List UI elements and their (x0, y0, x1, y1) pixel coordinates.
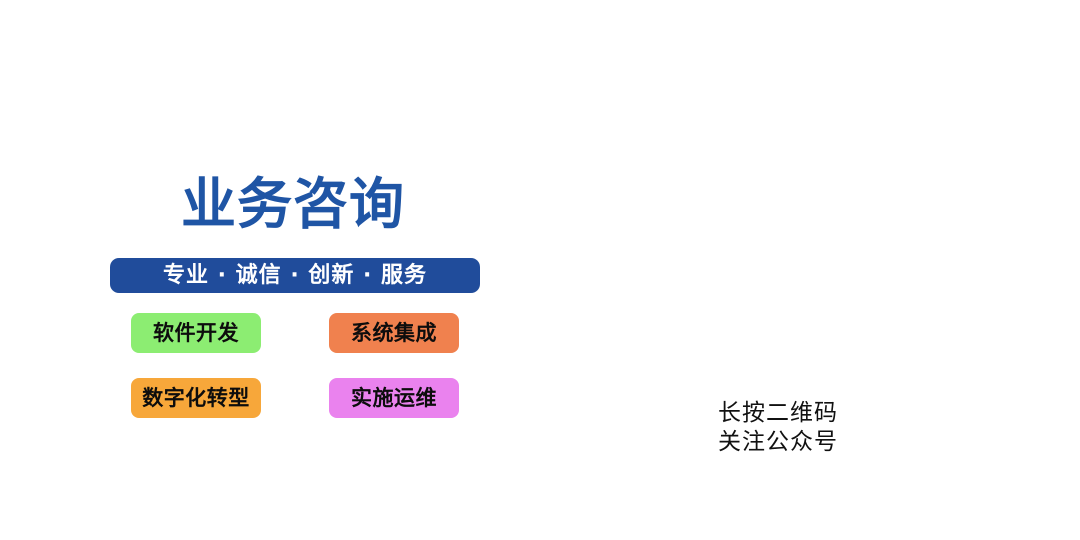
slogan-banner: 专业 · 诚信 · 创新 · 服务 (110, 258, 480, 293)
qr-caption: 长按二维码 关注公众号 (718, 399, 918, 457)
qr-caption-line-2: 关注公众号 (718, 428, 918, 457)
service-tag-grid: 软件开发 系统集成 数字化转型 实施运维 (131, 313, 461, 418)
poster-canvas: 业务咨询 专业 · 诚信 · 创新 · 服务 软件开发 系统集成 数字化转型 实… (0, 0, 1080, 540)
tag-label: 数字化转型 (142, 387, 250, 410)
tag-implementation-operations[interactable]: 实施运维 (329, 378, 459, 418)
tag-label: 软件开发 (153, 322, 239, 345)
slogan-text: 专业 · 诚信 · 创新 · 服务 (163, 264, 427, 288)
tag-label: 系统集成 (351, 322, 437, 345)
qr-caption-line-1: 长按二维码 (718, 399, 918, 428)
tag-software-development[interactable]: 软件开发 (131, 313, 261, 353)
tag-system-integration[interactable]: 系统集成 (329, 313, 459, 353)
tag-digital-transformation[interactable]: 数字化转型 (131, 378, 261, 418)
tag-label: 实施运维 (351, 387, 437, 410)
page-title: 业务咨询 (181, 173, 405, 235)
